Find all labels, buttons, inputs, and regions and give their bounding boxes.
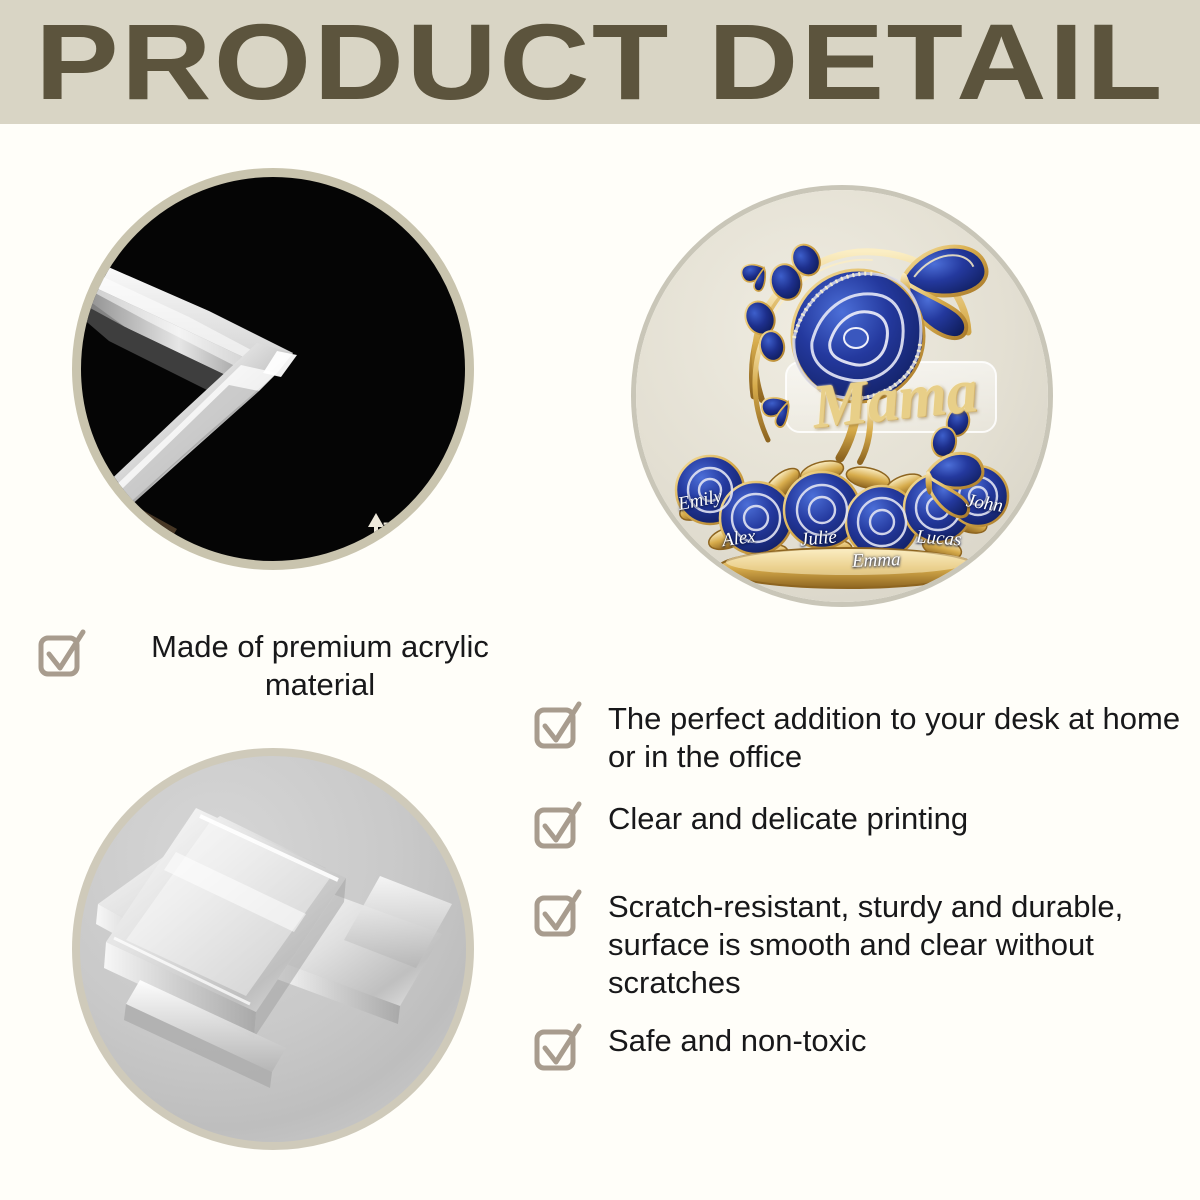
- thickness-callout: Thickness 0.55 in: [383, 515, 474, 570]
- thickness-label: Thickness: [383, 515, 474, 552]
- thickness-value: 0.55 in: [383, 552, 474, 570]
- feature-item-material: Made of premium acrylic material: [38, 628, 558, 704]
- engraved-name: Julie: [799, 526, 838, 551]
- feature-item-printing: Clear and delicate printing: [534, 800, 1194, 850]
- sheets-photo-circle: [72, 748, 474, 1150]
- thickness-photo-circle: Thickness 0.55 in: [72, 168, 474, 570]
- header-band: PRODUCT DETAIL: [0, 0, 1200, 124]
- feature-item-desk: The perfect addition to your desk at hom…: [534, 700, 1194, 776]
- checkbox-check-icon: [534, 802, 582, 850]
- feature-item-safe: Safe and non-toxic: [534, 1022, 1194, 1072]
- engraved-name: Emma: [852, 549, 901, 573]
- checkbox-check-icon: [534, 702, 582, 750]
- feature-text: Safe and non-toxic: [608, 1022, 867, 1060]
- checkbox-check-icon: [534, 1024, 582, 1072]
- acrylic-sheets-illustration: [80, 756, 466, 1142]
- feature-text: Scratch-resistant, sturdy and durable, s…: [608, 888, 1194, 1002]
- product-photo-circle: Mama Emily Alex Julie Emma Lucas John: [636, 190, 1048, 602]
- feature-text: The perfect addition to your desk at hom…: [608, 700, 1194, 776]
- engraved-name: Lucas: [915, 526, 962, 551]
- checkbox-check-icon: [534, 890, 582, 938]
- engraved-name: Alex: [721, 526, 757, 552]
- feature-text: Clear and delicate printing: [608, 800, 968, 838]
- page-title: PRODUCT DETAIL: [35, 8, 1165, 116]
- product-title-script: Mama: [809, 360, 980, 439]
- checkbox-check-icon: [38, 630, 86, 678]
- feature-text: Made of premium acrylic material: [110, 628, 530, 704]
- feature-item-scratch: Scratch-resistant, sturdy and durable, s…: [534, 888, 1194, 1002]
- acrylic-edge-illustration: [81, 177, 465, 561]
